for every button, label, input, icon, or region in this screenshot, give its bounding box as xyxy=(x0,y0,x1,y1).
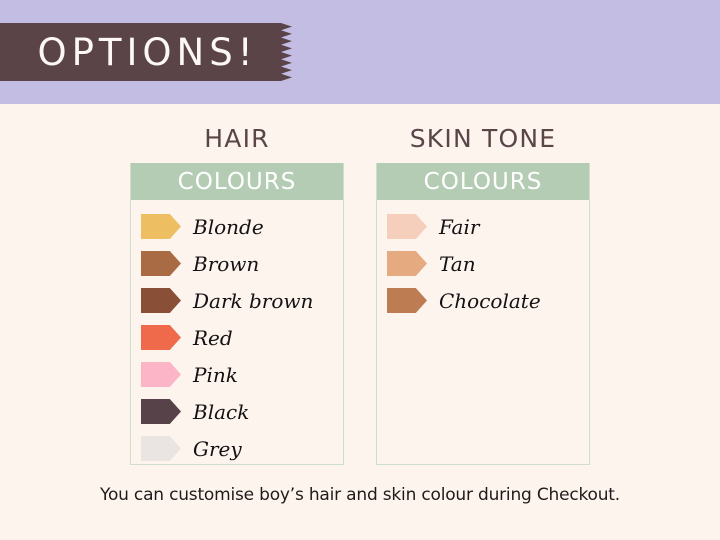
skin-tone-column-title: SKIN TONE xyxy=(376,122,590,155)
skin-tone-panel-header: COLOURS xyxy=(377,163,589,200)
list-item[interactable]: Fair xyxy=(377,208,589,245)
list-item[interactable]: Blonde xyxy=(131,208,343,245)
hair-column-title: HAIR xyxy=(130,122,344,155)
swatch-label: Red xyxy=(193,328,233,348)
color-chip-icon xyxy=(141,325,181,350)
color-chip-icon xyxy=(141,399,181,424)
list-item[interactable]: Red xyxy=(131,319,343,356)
options-ribbon: OPTIONS! xyxy=(0,23,292,81)
skin-tone-column: SKIN TONE COLOURS Fair Tan Chocolate xyxy=(376,122,590,465)
swatch-label: Grey xyxy=(193,439,242,459)
list-item[interactable]: Dark brown xyxy=(131,282,343,319)
hair-swatch-list: Blonde Brown Dark brown Red Pink xyxy=(131,200,343,467)
swatch-label: Brown xyxy=(193,254,259,274)
list-item[interactable]: Pink xyxy=(131,356,343,393)
list-item[interactable]: Tan xyxy=(377,245,589,282)
skin-tone-swatch-list: Fair Tan Chocolate xyxy=(377,200,589,319)
list-item[interactable]: Brown xyxy=(131,245,343,282)
swatch-label: Chocolate xyxy=(439,291,541,311)
hair-panel-header: COLOURS xyxy=(131,163,343,200)
swatch-label: Dark brown xyxy=(193,291,313,311)
color-chip-icon xyxy=(387,251,427,276)
list-item[interactable]: Chocolate xyxy=(377,282,589,319)
color-chip-icon xyxy=(387,214,427,239)
swatch-label: Pink xyxy=(193,365,238,385)
swatch-label: Black xyxy=(193,402,249,422)
ribbon-zigzag-icon xyxy=(281,23,292,81)
hair-column: HAIR COLOURS Blonde Brown Dark brown xyxy=(130,122,344,465)
options-page: OPTIONS! HAIR COLOURS Blonde Brown Dark … xyxy=(0,0,720,540)
swatch-label: Fair xyxy=(439,217,479,237)
color-chip-icon xyxy=(141,251,181,276)
swatch-label: Tan xyxy=(439,254,476,274)
color-chip-icon xyxy=(387,288,427,313)
page-title: OPTIONS! xyxy=(0,23,281,81)
color-chip-icon xyxy=(141,436,181,461)
list-item[interactable]: Black xyxy=(131,393,343,430)
color-chip-icon xyxy=(141,214,181,239)
footer-caption: You can customise boy’s hair and skin co… xyxy=(0,485,720,505)
skin-tone-panel: COLOURS Fair Tan Chocolate xyxy=(376,163,590,465)
swatch-label: Blonde xyxy=(193,217,264,237)
hair-panel: COLOURS Blonde Brown Dark brown Red xyxy=(130,163,344,465)
list-item[interactable]: Grey xyxy=(131,430,343,467)
color-chip-icon xyxy=(141,288,181,313)
color-chip-icon xyxy=(141,362,181,387)
